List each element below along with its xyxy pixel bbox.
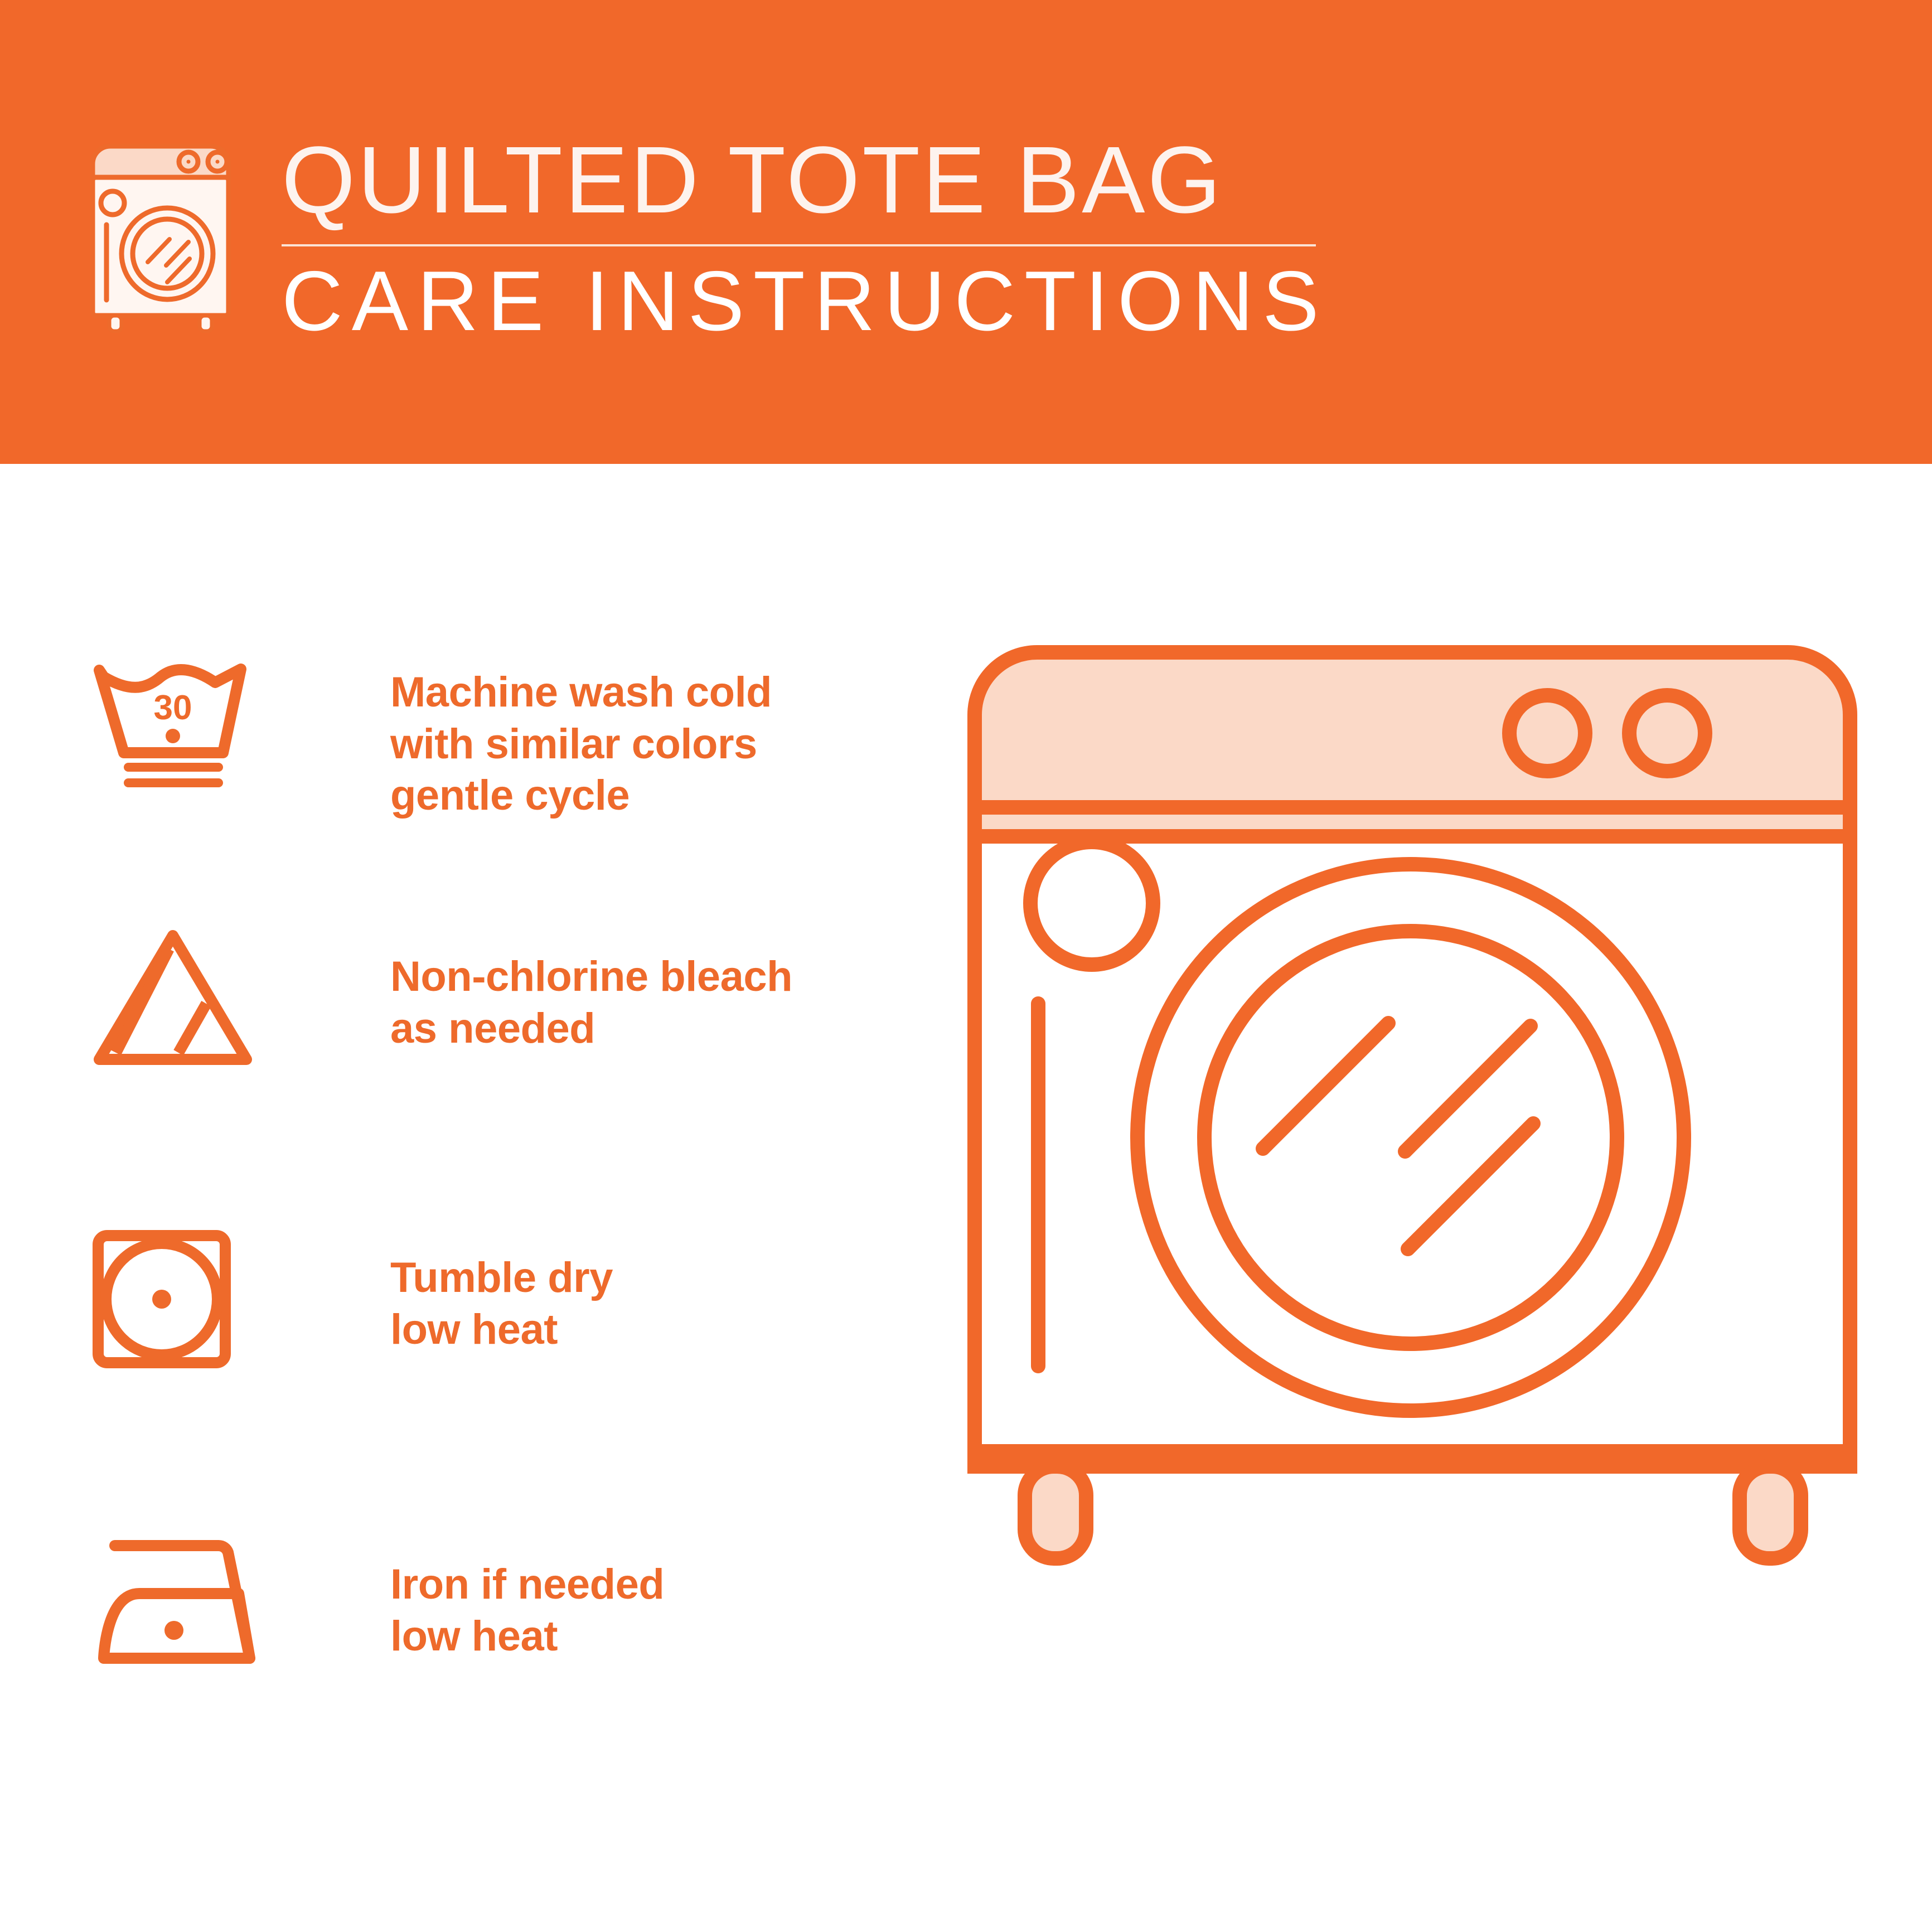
page-subtitle: CARE INSTRUCTIONS: [282, 259, 1324, 343]
wash-temperature-label: 30: [154, 689, 192, 727]
washing-machine-icon: [85, 138, 236, 335]
title-divider: [282, 244, 1316, 246]
wash-tub-30-gentle-icon: 30: [89, 658, 256, 795]
iron-low-heat-icon: [89, 1533, 256, 1676]
non-chlorine-bleach-triangle-icon: [89, 926, 256, 1073]
care-label-wash: Machine wash cold with similar colors ge…: [390, 667, 772, 822]
washing-machine-illustration: [948, 613, 1932, 1896]
care-label-iron: Iron if needed low heat: [390, 1559, 664, 1662]
page-title: QUILTED TOTE BAG: [282, 133, 1324, 227]
header-title-block: QUILTED TOTE BAG CARE INSTRUCTIONS: [282, 133, 1324, 343]
care-label-bleach: Non-chlorine bleach as needed: [390, 951, 792, 1054]
header-banner: QUILTED TOTE BAG CARE INSTRUCTIONS: [0, 0, 1932, 464]
care-label-dry: Tumble dry low heat: [390, 1252, 613, 1355]
tumble-dry-low-icon: [89, 1227, 234, 1374]
